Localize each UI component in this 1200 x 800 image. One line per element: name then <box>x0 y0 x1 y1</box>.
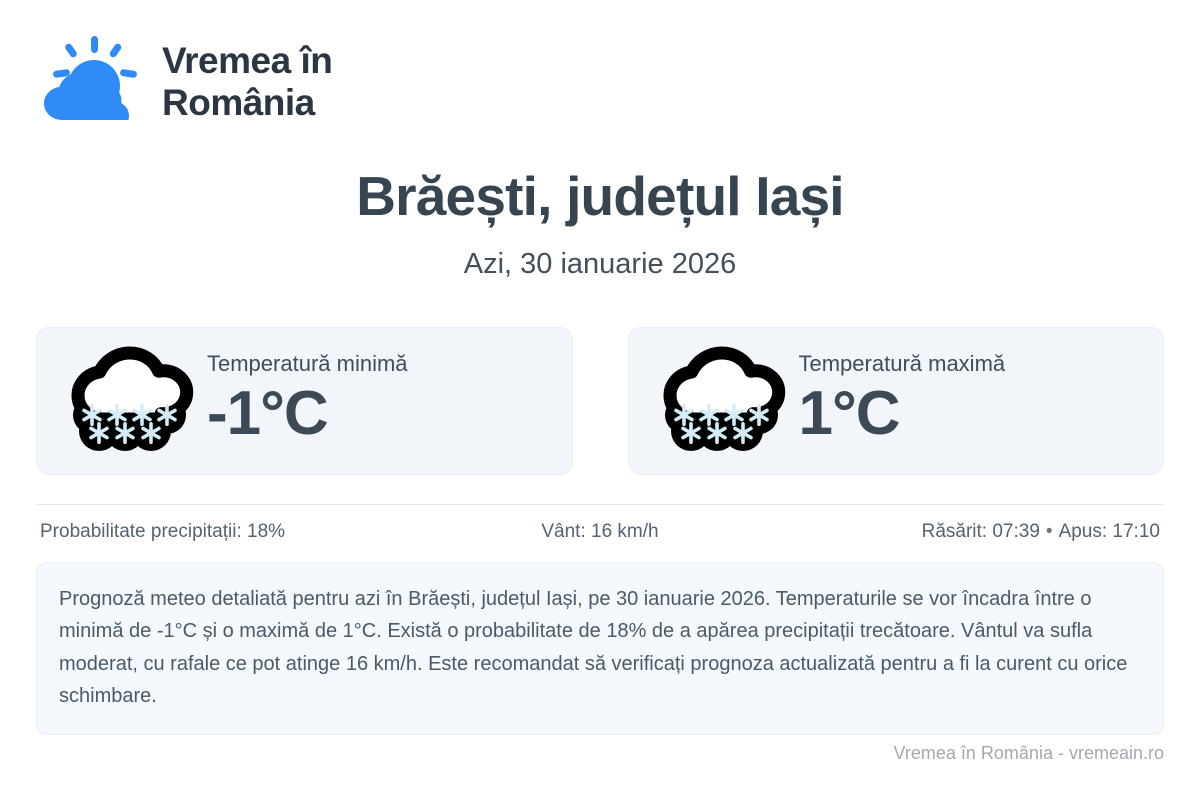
sun-behind-cloud-icon <box>36 34 140 130</box>
site-header: Vremea în România <box>36 0 1164 116</box>
snow-cloud-icon <box>63 345 195 457</box>
wind-stat: Vânt: 16 km/h <box>413 521 786 543</box>
page-title: Brăești, județul Iași <box>36 168 1164 226</box>
max-temperature-body: Temperatură maximă 1°C <box>799 352 1006 449</box>
max-temperature-value: 1°C <box>799 378 1006 449</box>
stats-row: Probabilitate precipitații: 18% Vânt: 16… <box>36 505 1164 543</box>
sunset-value: Apus: 17:10 <box>1059 521 1160 542</box>
precipitation-stat: Probabilitate precipitații: 18% <box>40 521 413 543</box>
max-temperature-card: Temperatură maximă 1°C <box>628 327 1165 475</box>
max-temperature-label: Temperatură maximă <box>799 352 1006 376</box>
footer-credit: Vremea în România - vremeain.ro <box>894 743 1164 764</box>
min-temperature-body: Temperatură minimă -1°C <box>207 352 408 449</box>
min-temperature-label: Temperatură minimă <box>207 352 408 376</box>
sun-times-stat: Răsărit: 07:39•Apus: 17:10 <box>787 521 1160 543</box>
separator-dot: • <box>1040 521 1059 542</box>
snow-cloud-icon <box>655 345 787 457</box>
temperature-cards: Temperatură minimă -1°C <box>36 327 1164 475</box>
sunrise-value: Răsărit: 07:39 <box>922 521 1040 542</box>
page-subtitle: Azi, 30 ianuarie 2026 <box>36 248 1164 281</box>
min-temperature-card: Temperatură minimă -1°C <box>36 327 573 475</box>
weather-page: Vremea în România Brăești, județul Iași … <box>0 0 1200 800</box>
forecast-description: Prognoză meteo detaliată pentru azi în B… <box>36 562 1164 736</box>
brand-name: Vremea în România <box>162 40 332 124</box>
min-temperature-value: -1°C <box>207 378 408 449</box>
